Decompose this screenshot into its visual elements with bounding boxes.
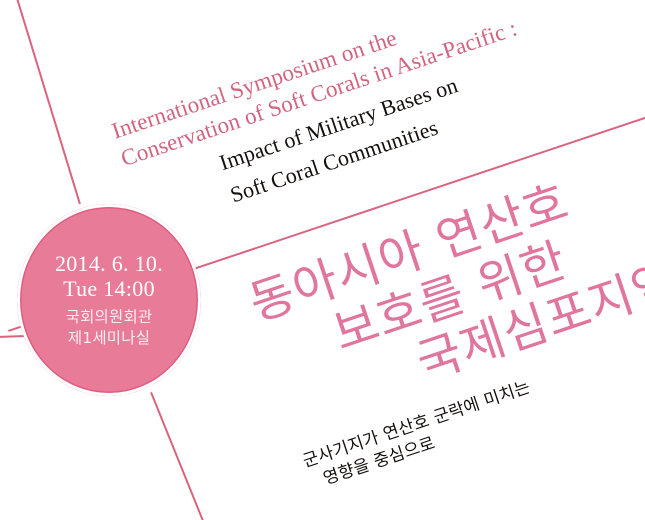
korean-title-block: 동아시아 연산호 보호를 위한 국제심포지엄 <box>243 150 645 436</box>
decorative-line-left-stub <box>0 335 26 338</box>
event-time: Tue 14:00 <box>63 277 155 301</box>
event-date: 2014. 6. 10. <box>55 252 163 276</box>
decorative-line-top-left <box>16 0 80 204</box>
event-date-venue-badge: 2014. 6. 10. Tue 14:00 국회의원회관 제1세미나실 <box>17 204 201 396</box>
decorative-line-bottom <box>151 392 207 520</box>
event-venue-line2: 제1세미나실 <box>68 328 150 348</box>
event-venue-line1: 국회의원회관 <box>66 307 153 327</box>
symposium-poster: 2014. 6. 10. Tue 14:00 국회의원회관 제1세미나실 Int… <box>0 0 645 520</box>
